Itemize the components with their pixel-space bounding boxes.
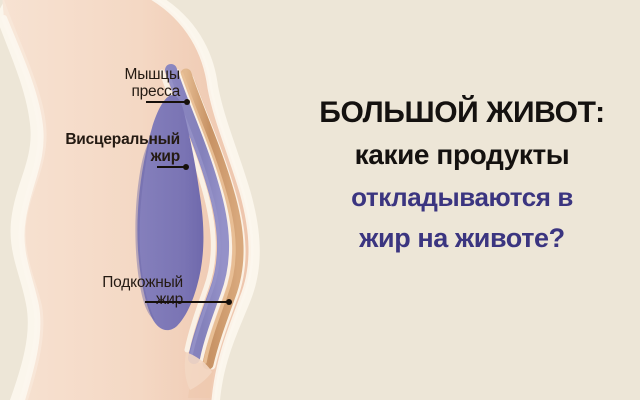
callout-label-subcutaneous-fat: Подкожный жир xyxy=(38,274,183,309)
callout-label-abdominal-muscles: Мышцы пресса xyxy=(55,66,180,101)
leader-line-visceral-fat xyxy=(157,166,187,168)
abdominal-cross-section-illustration xyxy=(0,0,300,400)
callout-label-visceral-fat: Висцеральный жир xyxy=(30,131,180,166)
headline-line-1: БОЛЬШОЙ ЖИВОТ: xyxy=(288,98,636,128)
poster-root: Мышцы пресса Висцеральный жир Подкожный … xyxy=(0,0,640,400)
leader-line-subcutaneous-fat xyxy=(145,301,230,303)
headline-line-2: какие продукты xyxy=(288,141,636,169)
leader-line-abdominal-muscles xyxy=(146,101,188,103)
headline-block: БОЛЬШОЙ ЖИВОТ: какие продукты откладываю… xyxy=(288,98,636,252)
headline-line-3: откладываются в xyxy=(288,184,636,210)
headline-line-4: жир на животе? xyxy=(288,225,636,252)
